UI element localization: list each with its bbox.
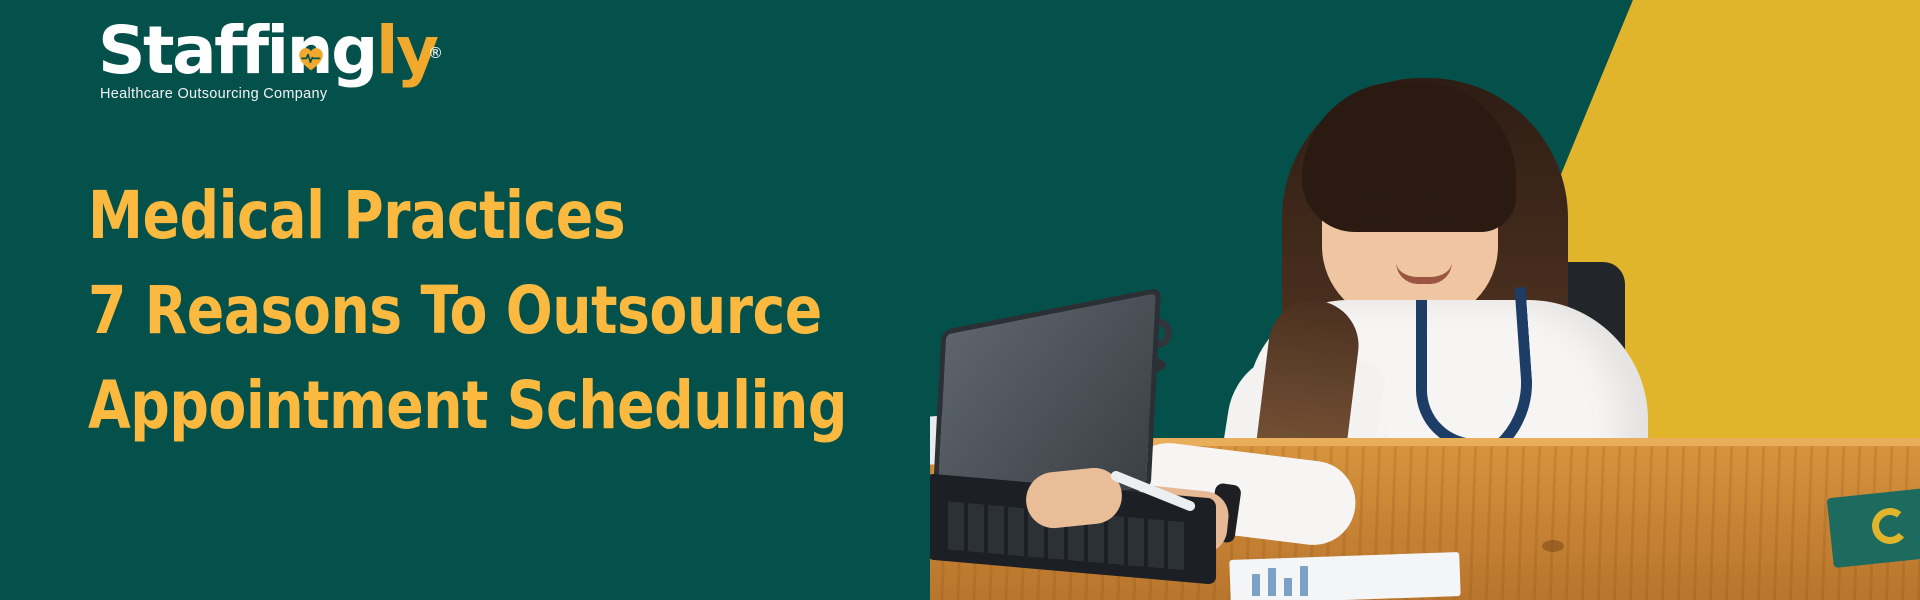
brand-logo[interactable]: Staffingly ® Healthcare Outsourcing Comp… bbox=[98, 18, 518, 110]
registered-trademark-symbol: ® bbox=[428, 20, 443, 86]
desk-paper bbox=[1229, 552, 1460, 600]
hero-photo bbox=[930, 0, 1920, 600]
headline-line-3: Appointment Scheduling bbox=[88, 358, 925, 453]
logo-wordmark: Staffingly ® bbox=[98, 18, 518, 88]
paper-chart-bar bbox=[1300, 566, 1308, 596]
logo-word-primary: Staffing bbox=[98, 12, 376, 89]
headline-block: Medical Practices 7 Reasons To Outsource… bbox=[88, 168, 988, 453]
heart-pulse-icon bbox=[298, 16, 324, 40]
doctor-at-laptop-illustration bbox=[930, 0, 1920, 600]
paper-chart-bar bbox=[1268, 568, 1276, 596]
eye-left bbox=[1364, 216, 1386, 225]
headline-line-2: 7 Reasons To Outsource bbox=[88, 263, 925, 358]
paper-chart-bar bbox=[1284, 578, 1292, 596]
marketing-banner: Staffingly ® Healthcare Outsourcing Comp… bbox=[0, 0, 1920, 600]
desk-knot bbox=[1542, 540, 1564, 552]
paper-chart-bar bbox=[1252, 574, 1260, 596]
eye-right bbox=[1430, 214, 1452, 223]
logo-tagline: Healthcare Outsourcing Company bbox=[100, 86, 327, 102]
headline-line-1: Medical Practices bbox=[88, 168, 925, 263]
